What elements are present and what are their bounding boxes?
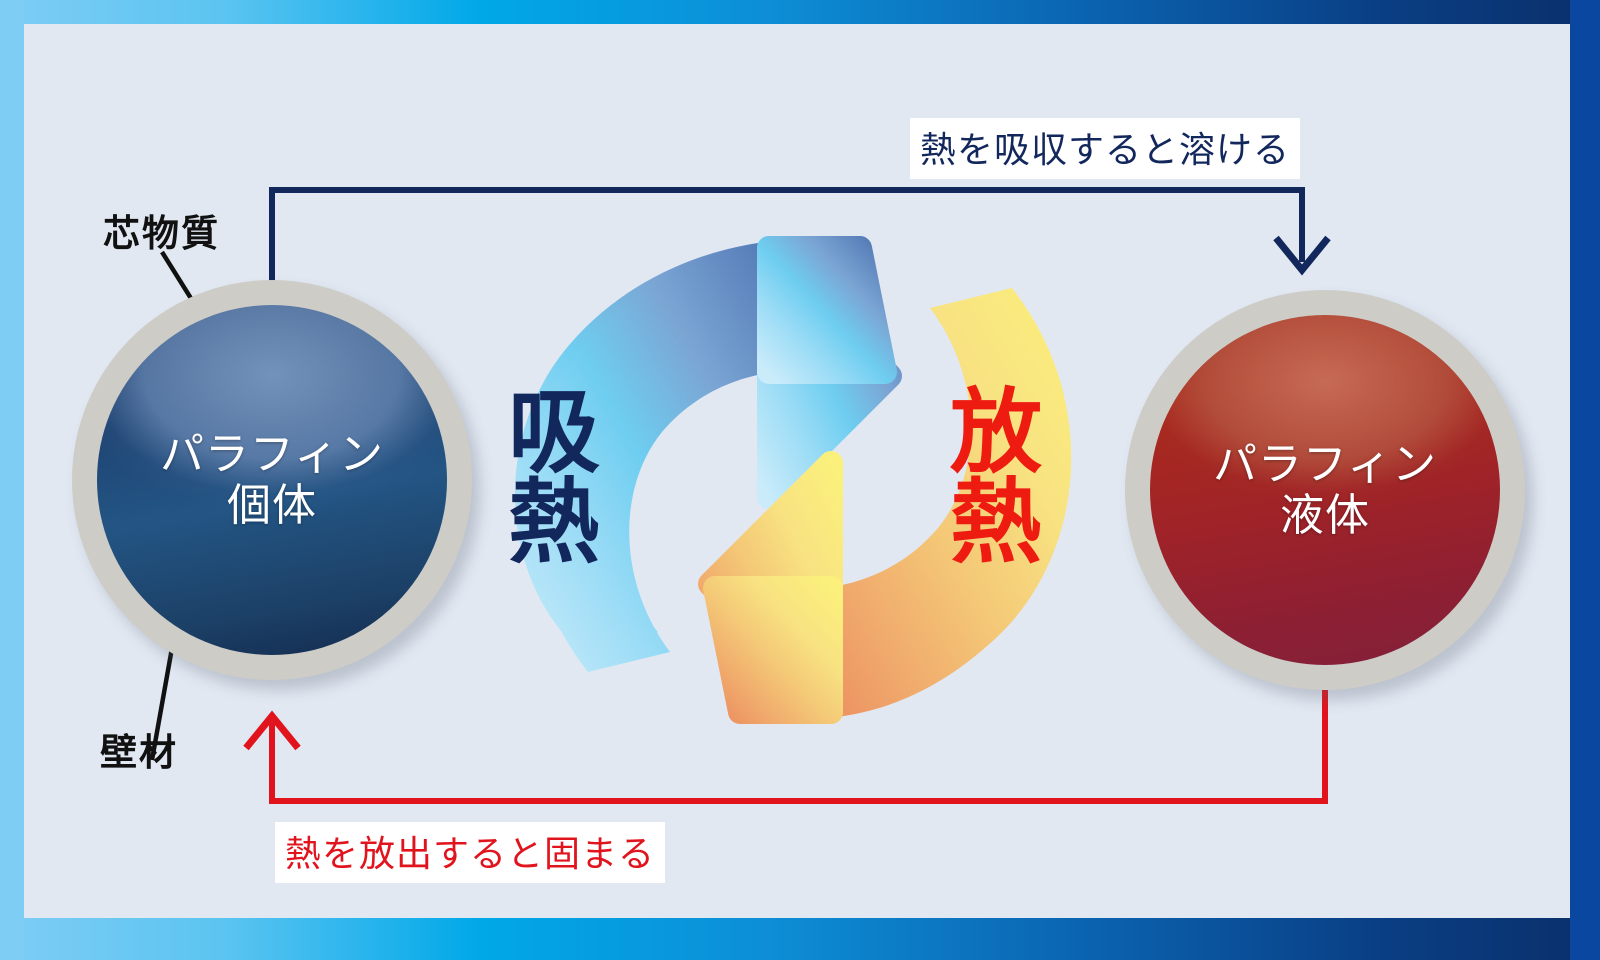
transition-label-solidify: 熱を放出すると固まる — [275, 822, 665, 883]
capsule-liquid-core: パラフィン 液体 — [1150, 315, 1500, 665]
cycle-caption-endothermic: 吸 熱 — [508, 388, 600, 568]
capsule-solid-core: パラフィン 個体 — [97, 305, 447, 655]
capsule-solid-label-line2: 個体 — [227, 480, 317, 531]
callout-wall-material: 壁材 — [100, 722, 178, 776]
cycle-caption-exothermic-line1: 放 — [950, 388, 1042, 478]
capsule-liquid-label-line2: 液体 — [1280, 490, 1370, 541]
diagram-canvas: パラフィン 個体 パラフィン 液体 芯物質 壁材 熱を吸収すると溶ける 熱を放出… — [0, 0, 1600, 960]
cycle-caption-exothermic: 放 熱 — [950, 388, 1042, 568]
transition-label-melt: 熱を吸収すると溶ける — [910, 118, 1300, 179]
cycle-caption-exothermic-line2: 熱 — [950, 478, 1042, 568]
capsule-liquid-shell: パラフィン 液体 — [1125, 290, 1525, 690]
capsule-liquid-label-line1: パラフィン — [1213, 439, 1437, 490]
cycle-caption-endothermic-line2: 熱 — [508, 478, 600, 568]
cycle-caption-endothermic-line1: 吸 — [508, 388, 600, 478]
capsule-solid-shell: パラフィン 個体 — [72, 280, 472, 680]
callout-core-material: 芯物質 — [103, 203, 220, 257]
capsule-solid-label-line1: パラフィン — [160, 429, 384, 480]
